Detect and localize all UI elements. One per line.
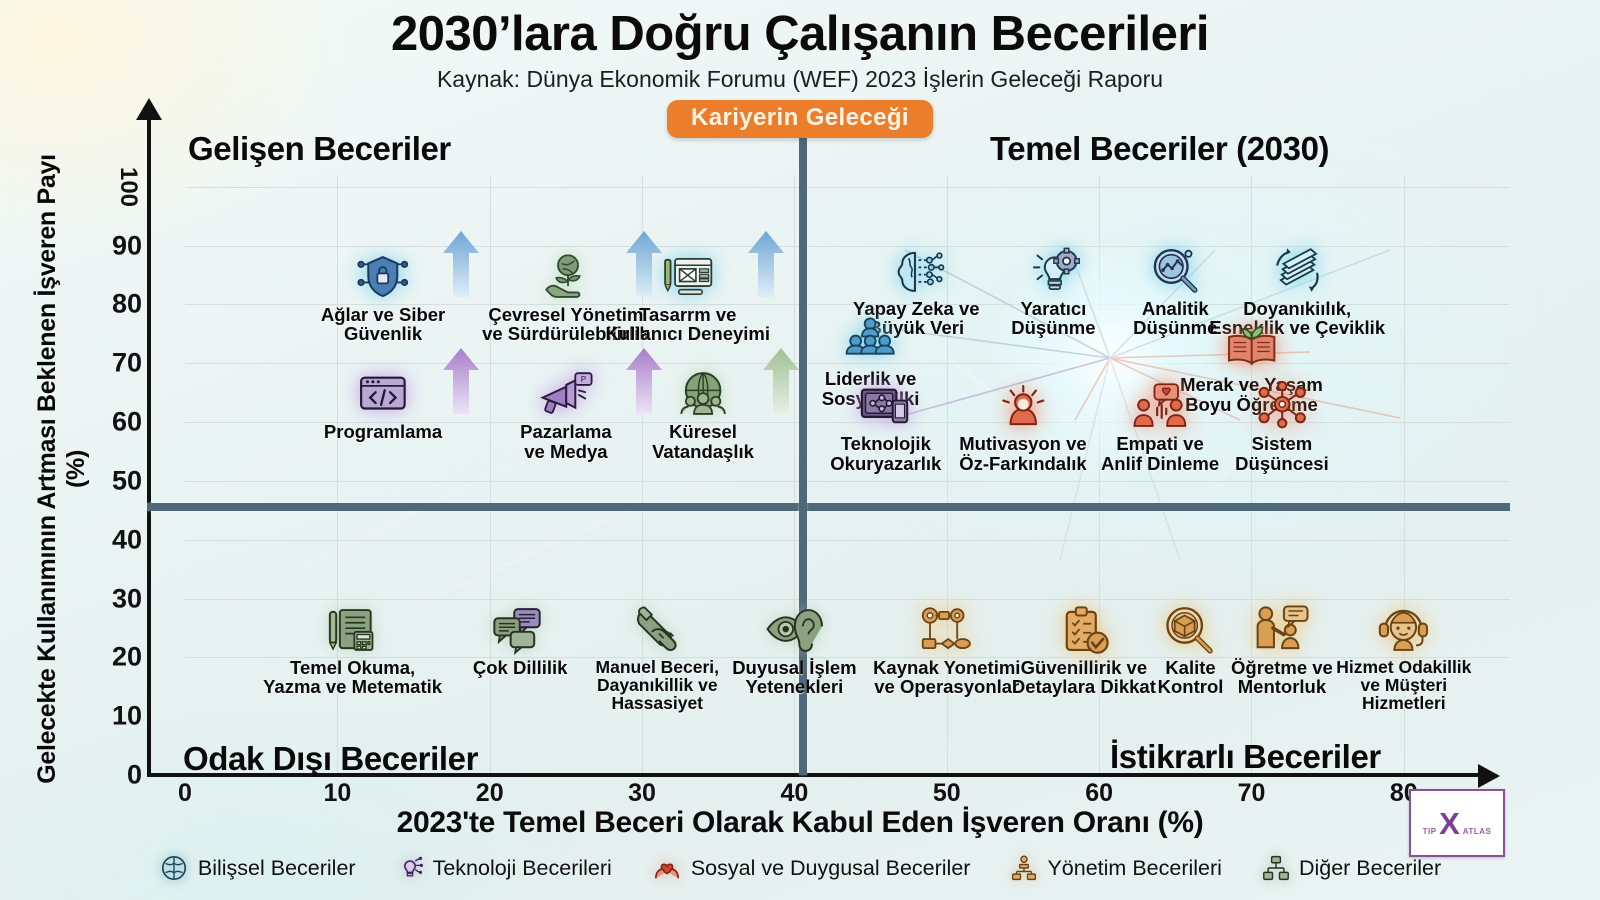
x-axis-label: 2023'te Temel Beceri Olarak Kabul Eden İ… <box>160 806 1440 840</box>
shield-lock-icon <box>321 241 445 303</box>
analytics-magnifier-icon <box>1133 235 1217 297</box>
y-tick-40: 40 <box>112 524 142 555</box>
watermark-inner: TIP X ATLAS <box>1423 808 1492 839</box>
legend-label: Diğer Beceriler <box>1299 856 1441 881</box>
quadrant-title-bottom-right: İstikrarlı Beceriler <box>1110 738 1381 776</box>
skill-item-ok-dillilik[interactable]: Çok Dillilik <box>473 594 568 677</box>
x-tick-0: 0 <box>178 779 192 808</box>
gridline-h <box>185 481 1510 482</box>
y-tick-70: 70 <box>112 348 142 379</box>
legend: Bilişsel BecerilerTeknoloji BecerileriSo… <box>0 836 1600 900</box>
skill-item-sistem[interactable]: Sistem Düşüncesi <box>1235 370 1329 473</box>
x-tick-30: 30 <box>628 779 656 808</box>
skill-item-kalite[interactable]: Kalite Kontrol <box>1158 594 1224 697</box>
y-tick-0: 0 <box>127 760 142 791</box>
y-tick-100: 100 <box>114 167 142 207</box>
y-tick-90: 90 <box>112 230 142 261</box>
skill-label: Pazarlama ve Medya <box>520 422 612 461</box>
literacy-doc-icon <box>263 594 442 656</box>
org-chart-icon <box>1010 854 1038 882</box>
badge-kariyerin-gelecegi: Kariyerin Geleceği <box>667 100 933 138</box>
watermark-right-text: ATLAS <box>1463 827 1492 836</box>
network-nodes-icon <box>1262 854 1290 882</box>
gridline-h <box>185 187 1510 188</box>
skill-item-teknolojik[interactable]: Teknolojik Okuryazarlık <box>830 370 941 473</box>
y-tick-30: 30 <box>112 583 142 614</box>
watermark-x-mark: X <box>1439 806 1460 841</box>
source-subtitle: Kaynak: Dünya Ekonomik Forumu (WEF) 2023… <box>0 66 1600 93</box>
trend-arrow-up <box>439 229 483 304</box>
header: 2030’lara Doğru Çalışanın Becerileri Kay… <box>0 0 1600 138</box>
skill-item-duyusal-i-lem[interactable]: Duyusal İşlem Yetenekleri <box>732 594 856 697</box>
mentor-icon <box>1231 594 1333 656</box>
y-tick-50: 50 <box>112 465 142 496</box>
legend-label: Sosyal ve Duygusal Beceriler <box>691 856 971 881</box>
ai-brain-icon <box>853 235 980 297</box>
legend-item-cognitive[interactable]: Bilişsel Beceriler <box>159 854 356 882</box>
headset-agent-icon <box>1336 594 1471 656</box>
legend-item-management[interactable]: Yönetim Becerileri <box>1010 854 1221 882</box>
skill-label: Programlama <box>324 422 442 441</box>
skill-item-yarat-c[interactable]: Yaratıcı Düşünme <box>1011 235 1095 338</box>
skill-item-programlama[interactable]: Programlama <box>324 358 442 441</box>
skill-label: Sistem Düşüncesi <box>1235 434 1329 473</box>
open-book-leaf-icon <box>1180 311 1323 373</box>
legend-label: Bilişsel Beceriler <box>198 856 356 881</box>
clipboard-check-icon <box>1012 594 1156 656</box>
skill-label: Kalite Kontrol <box>1158 658 1224 697</box>
legend-item-other[interactable]: Diğer Beceriler <box>1262 854 1441 882</box>
tablet-network-icon <box>830 370 941 432</box>
skill-label: Hizmet Odakillik ve Müşteri Hizmetleri <box>1336 658 1471 713</box>
x-tick-10: 10 <box>323 779 351 808</box>
x-tick-20: 20 <box>476 779 504 808</box>
trend-arrow-up <box>759 346 803 421</box>
legend-label: Yönetim Becerileri <box>1047 856 1221 881</box>
skill-label: Küresel Vatandaşlık <box>652 422 754 461</box>
system-nodes-icon <box>1235 370 1329 432</box>
y-tick-60: 60 <box>112 407 142 438</box>
skill-label: Güvenillirik ve Detaylara Dikkat <box>1012 658 1156 697</box>
skill-item-temel-okuma[interactable]: Temel Okuma, Yazma ve Metematik <box>263 594 442 697</box>
watermark-left-text: TIP <box>1423 827 1437 836</box>
y-tick-20: 20 <box>112 642 142 673</box>
leadership-org-icon <box>822 305 920 367</box>
wrench-hand-icon <box>596 594 720 656</box>
skill-item-kaynak-yonetimi[interactable]: Kaynak Yonetimi ve Operasyonlar <box>873 594 1020 697</box>
y-axis-line <box>147 112 151 777</box>
eye-ear-icon <box>732 594 856 656</box>
quadrant-divider-horizontal <box>147 503 1510 511</box>
quality-magnifier-icon <box>1158 594 1224 656</box>
code-window-icon <box>324 358 442 420</box>
skill-item-mutivasyon-ve[interactable]: Mutivasyon ve Öz-Farkındalık <box>959 370 1087 473</box>
y-axis-label: Gelecekte Kullanımının Artması Beklenen … <box>33 149 91 789</box>
x-tick-50: 50 <box>933 779 961 808</box>
skill-label: Teknolojik Okuryazarlık <box>830 434 941 473</box>
heart-hands-icon <box>652 854 682 882</box>
skill-item-manuel-beceri[interactable]: Manuel Beceri, Dayanıkillik ve Hassasiye… <box>596 594 720 713</box>
workflow-gears-icon <box>873 594 1020 656</box>
skill-item-empati-ve[interactable]: Empati ve Anlif Dinleme <box>1101 370 1219 473</box>
skill-item-k-resel[interactable]: Küresel Vatandaşlık <box>652 358 754 461</box>
x-tick-70: 70 <box>1238 779 1266 808</box>
legend-item-social[interactable]: Sosyal ve Duygusal Beceriler <box>652 854 971 882</box>
skill-label: Ağlar ve Siber Güvenlik <box>321 305 445 344</box>
trend-arrow-up <box>744 229 788 304</box>
skill-item-g-venillirik-ve[interactable]: Güvenillirik ve Detaylara Dikkat <box>1012 594 1156 697</box>
legend-label: Teknoloji Becerileri <box>433 856 612 881</box>
skill-label: Kaynak Yonetimi ve Operasyonlar <box>873 658 1020 697</box>
skill-label: Çok Dillilik <box>473 658 568 677</box>
watermark-logo: TIP X ATLAS <box>1409 789 1505 857</box>
page-title: 2030’lara Doğru Çalışanın Becerileri <box>0 6 1600 62</box>
skill-label: Tasarrm ve Kullanıcı Deneyimi <box>606 305 771 344</box>
x-tick-60: 60 <box>1085 779 1113 808</box>
gridline-h <box>185 540 1510 541</box>
skill-item-retme-ve[interactable]: Öğretme ve Mentorluk <box>1231 594 1333 697</box>
x-tick-40: 40 <box>781 779 809 808</box>
skill-item-a-lar-ve-siber[interactable]: Ağlar ve Siber Güvenlik <box>321 241 445 344</box>
trend-arrow-up <box>439 346 483 421</box>
quadrant-title-bottom-left: Odak Dışı Beceriler <box>183 740 478 778</box>
multilingual-chat-icon <box>473 594 568 656</box>
flex-books-icon <box>1209 235 1385 297</box>
legend-item-technology[interactable]: Teknoloji Becerileri <box>396 854 612 882</box>
skill-label: Duyusal İşlem Yetenekleri <box>732 658 856 697</box>
skill-label: Öğretme ve Mentorluk <box>1231 658 1333 697</box>
skill-label: Temel Okuma, Yazma ve Metematik <box>263 658 442 697</box>
empathy-talk-icon <box>1101 370 1219 432</box>
motivated-person-icon <box>959 370 1087 432</box>
skill-label: Yaratıcı Düşünme <box>1011 299 1095 338</box>
y-tick-10: 10 <box>112 701 142 732</box>
tech-bulb-icon <box>396 854 424 882</box>
skill-item-pazarlama[interactable]: PPazarlama ve Medya <box>520 358 612 461</box>
skill-label: Manuel Beceri, Dayanıkillik ve Hassasiye… <box>596 658 720 713</box>
brain-icon <box>159 854 189 882</box>
svg-text:P: P <box>580 376 585 385</box>
megaphone-icon: P <box>520 358 612 420</box>
bulb-gear-icon <box>1011 235 1095 297</box>
x-axis-arrow <box>1478 764 1500 788</box>
skill-label: Empati ve Anlif Dinleme <box>1101 434 1219 473</box>
skill-label: Mutivasyon ve Öz-Farkındalık <box>959 434 1087 473</box>
globe-people-icon <box>652 358 754 420</box>
y-tick-80: 80 <box>112 289 142 320</box>
skill-item-hizmet-odakillik[interactable]: Hizmet Odakillik ve Müşteri Hizmetleri <box>1336 594 1471 713</box>
